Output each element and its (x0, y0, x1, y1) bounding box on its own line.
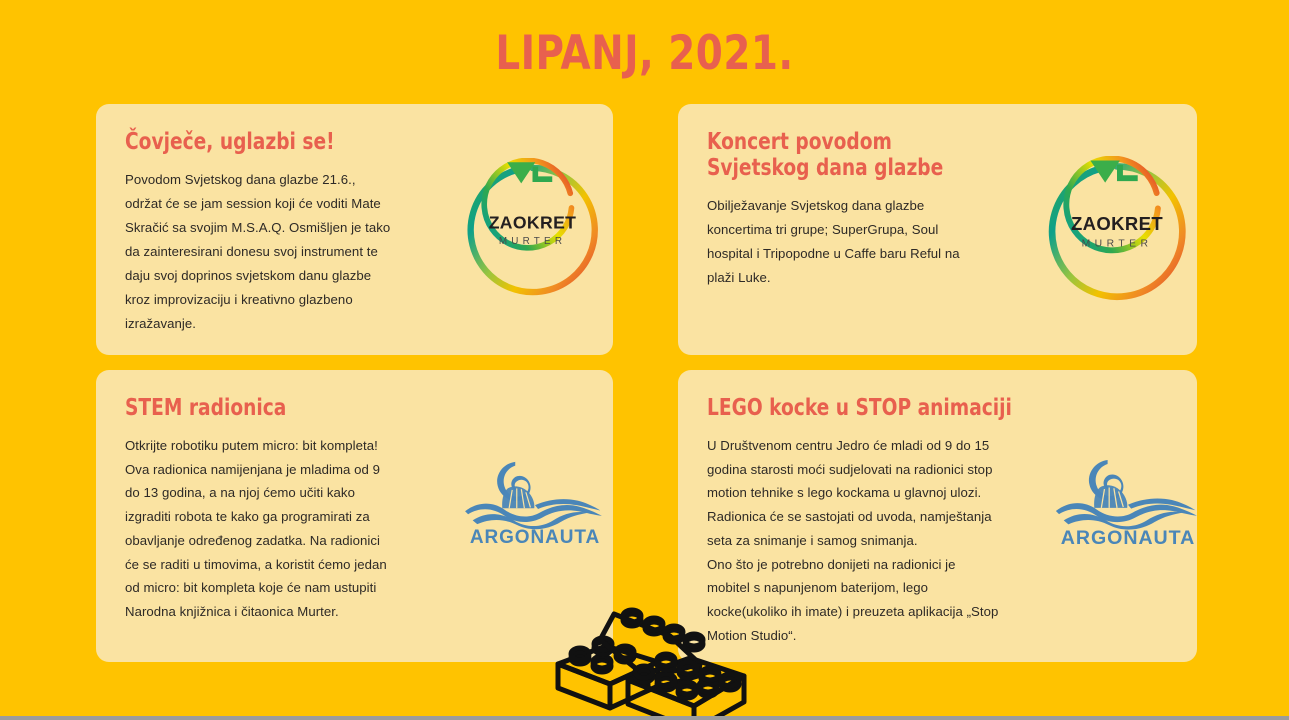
svg-text:ZAOKRET: ZAOKRET (1071, 213, 1163, 234)
page-title: LIPANJ, 2021. (52, 26, 1238, 81)
card-body-text: Otkrijte robotiku putem micro: bit kompl… (125, 434, 440, 624)
svg-text:ARGONAUTA: ARGONAUTA (470, 527, 600, 548)
poster-canvas: LIPANJ, 2021. Čovječe, uglazbi se! Povod… (0, 0, 1289, 720)
bottom-border-strip (0, 716, 1289, 720)
svg-text:MURTER: MURTER (499, 236, 566, 247)
card-heading: STEM radionica (125, 396, 409, 422)
card-body-text: Povodom Svjetskog dana glazbe 21.6., odr… (125, 168, 435, 336)
card-body-text: Obilježavanje Svjetskog dana glazbe konc… (707, 194, 1037, 290)
argonauta-logo-icon: ARGONAUTA (459, 455, 611, 550)
card-body-text: U Društvenom centru Jedro će mladi od 9 … (707, 434, 1052, 648)
svg-text:MURTER: MURTER (1082, 238, 1153, 249)
zaokret-murter-logo-icon: ZAOKRET MURTER (462, 158, 603, 299)
card-text-column: Koncert povodom Svjetskog dana glazbe Ob… (707, 130, 1037, 290)
card-text-column: STEM radionica Otkrijte robotiku putem m… (125, 396, 440, 624)
zaokret-murter-logo-icon: ZAOKRET MURTER (1043, 156, 1191, 304)
card-heading: Koncert povodom Svjetskog dana glazbe (707, 130, 977, 182)
card-text-column: Čovječe, uglazbi se! Povodom Svjetskog d… (125, 130, 435, 336)
card-heading: LEGO kocke u STOP animaciji (707, 396, 1018, 422)
lego-bricks-illustration-icon (548, 592, 748, 716)
argonauta-logo-icon: ARGONAUTA (1049, 453, 1207, 551)
svg-text:ZAOKRET: ZAOKRET (489, 213, 577, 233)
svg-text:ARGONAUTA: ARGONAUTA (1061, 527, 1195, 549)
card-text-column: LEGO kocke u STOP animaciji U Društvenom… (707, 396, 1052, 648)
card-heading: Čovječe, uglazbi se! (125, 130, 404, 156)
